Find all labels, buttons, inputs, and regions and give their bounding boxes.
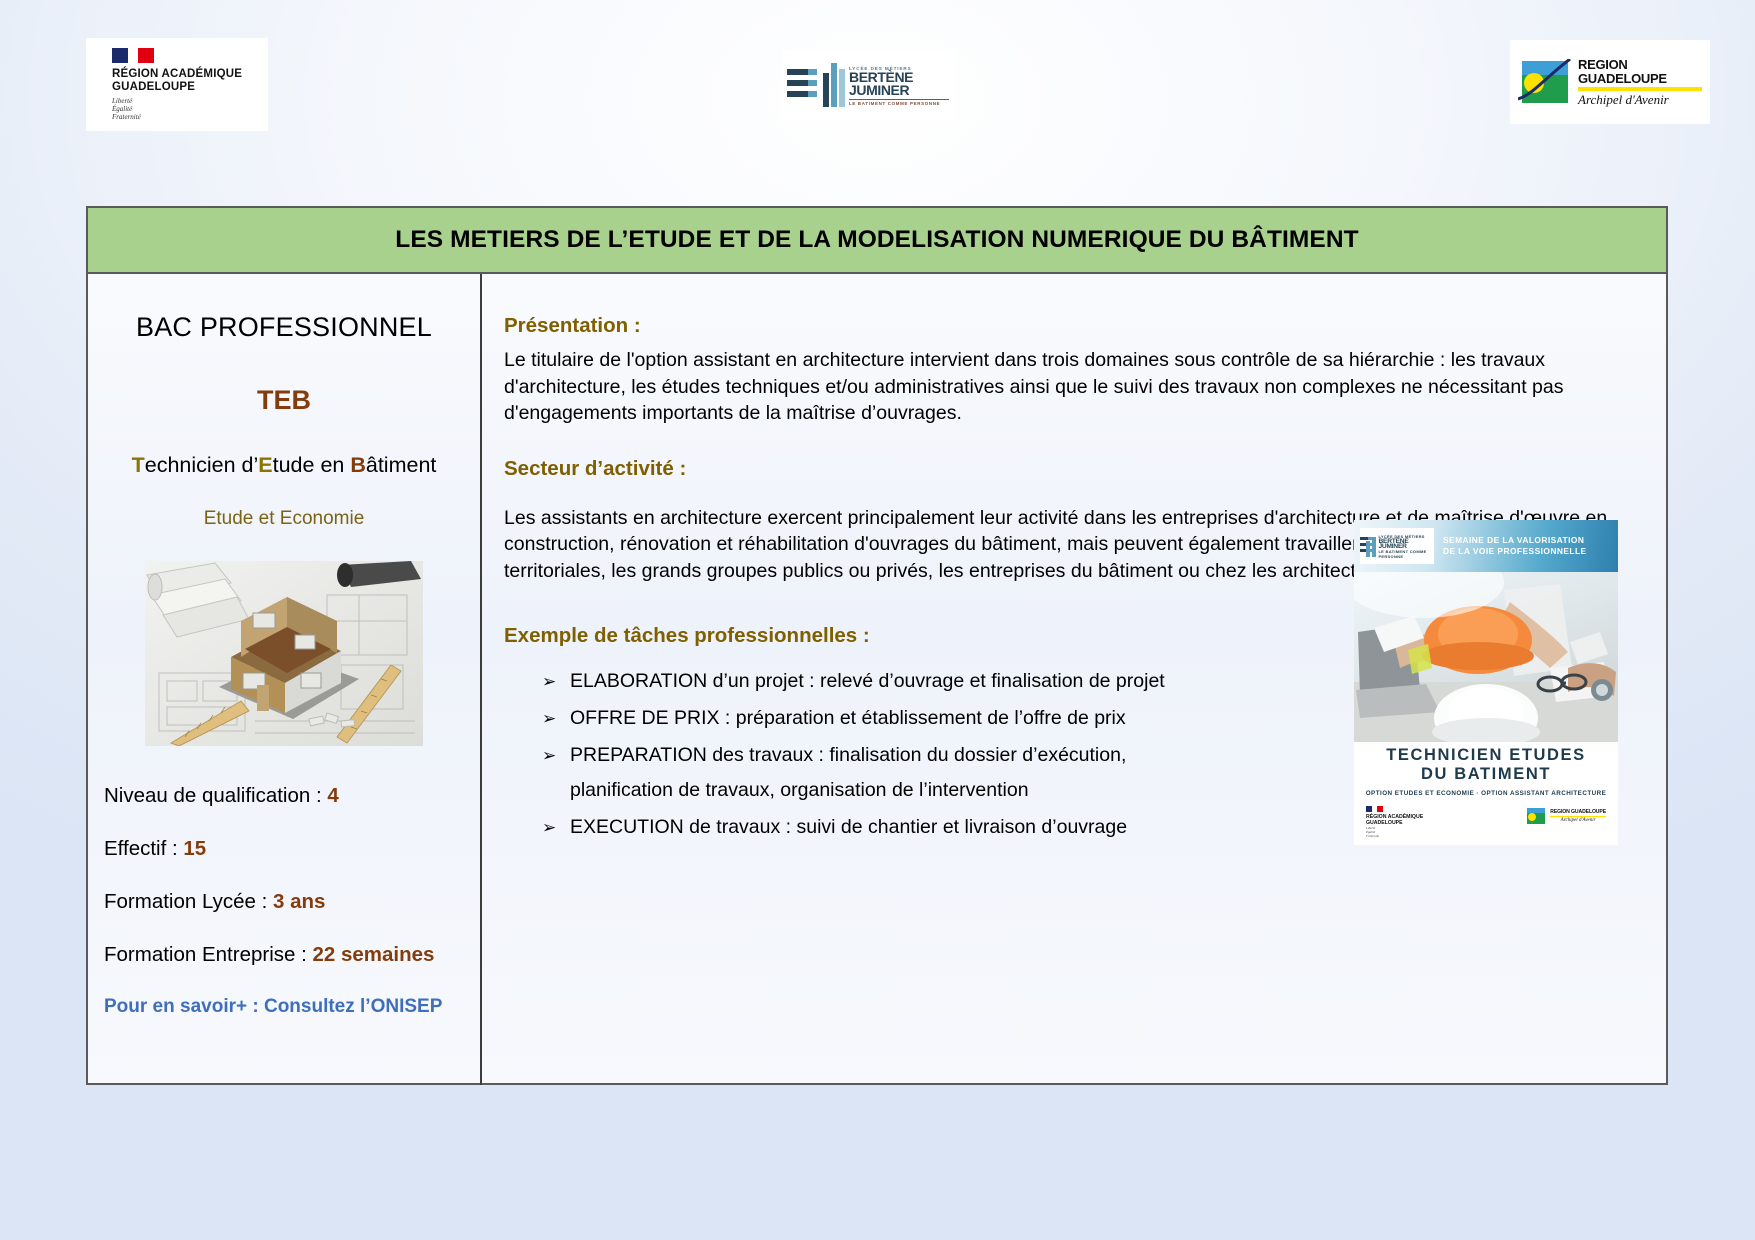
house-model-illustration: [145, 561, 423, 746]
task-text-1: OFFRE DE PRIX : préparation et établisse…: [570, 707, 1126, 729]
poster-slogan: SEMAINE DE LA VALORISATION DE LA VOIE PR…: [1443, 535, 1587, 557]
lycee-name2: JUMINER: [849, 84, 949, 97]
poster-footer-region-sub: Archipel d'Avenir: [1550, 818, 1606, 823]
poster-slogan-line1: SEMAINE DE LA VALORISATION: [1443, 535, 1587, 546]
diploma-option: Etude et Economie: [204, 508, 365, 530]
french-flag-icon: [1366, 806, 1383, 812]
academie-name-line1: RÉGION ACADÉMIQUE: [112, 68, 268, 81]
stat-value-2: 3 ans: [273, 890, 325, 913]
poster-title-line1: TECHNICIEN ETUDES: [1362, 746, 1610, 765]
region-subtitle: Archipel d'Avenir: [1578, 93, 1702, 107]
poster-header: LYCÉE DES MÉTIERS BERTÈNE JUMINER LE BAT…: [1354, 520, 1618, 572]
task-text-3: EXECUTION de travaux : suivi de chantier…: [570, 816, 1127, 838]
logo-region-guadeloupe: REGION GUADELOUPE Archipel d'Avenir: [1510, 40, 1710, 124]
arrow-bullet-icon: ➢: [542, 810, 556, 845]
building-mark-icon: [1360, 535, 1376, 557]
task-text-0: ELABORATION d’un projet : relevé d’ouvra…: [570, 670, 1165, 692]
academie-name-line2: GUADELOUPE: [112, 81, 268, 94]
region-title: REGION GUADELOUPE: [1578, 58, 1702, 86]
poster-footer-region: REGION GUADELOUPE Archipel d'Avenir: [1525, 806, 1606, 826]
lycee-tagline: LE BATIMENT COMME PERSONNE: [849, 101, 949, 106]
stat-label-3: Formation Entreprise :: [104, 943, 313, 966]
key-figures: Niveau de qualification : 4 Effectif : 1…: [98, 784, 470, 1018]
french-flag-icon: [112, 48, 154, 63]
presentation-heading: Présentation :: [504, 314, 1640, 338]
stat-value-1: 15: [183, 837, 206, 860]
stat-label-0: Niveau de qualification :: [104, 784, 327, 807]
poster-motto-fraternite: Fraternité: [1366, 835, 1423, 839]
motto-fraternite: Fraternité: [112, 113, 268, 121]
sheet-header: LES METIERS DE L’ETUDE ET DE LA MODELISA…: [88, 208, 1666, 274]
presentation-body: Le titulaire de l'option assistant en ar…: [504, 347, 1640, 427]
stat-niveau-qualification: Niveau de qualification : 4: [104, 784, 466, 808]
diploma-acronym-expanded: Technicien d’Etude en Bâtiment: [132, 453, 437, 478]
left-column: BAC PROFESSIONNEL TEB Technicien d’Etude…: [88, 274, 482, 1085]
stat-formation-lycee: Formation Lycée : 3 ans: [104, 890, 466, 914]
stat-label-1: Effectif :: [104, 837, 183, 860]
poster-subtitle: OPTION ETUDES ET ECONOMIE · OPTION ASSIS…: [1362, 790, 1610, 797]
region-yellow-bar: [1578, 87, 1702, 91]
stat-value-3: 22 semaines: [313, 943, 435, 966]
acronym-part3: âtiment: [366, 453, 437, 477]
logo-band: RÉGION ACADÉMIQUE GUADELOUPE Liberté Éga…: [0, 0, 1755, 150]
poster-footer-region-title: REGION GUADELOUPE: [1550, 809, 1606, 815]
acronym-letter-t: T: [132, 453, 145, 477]
poster-footer-academie: RÉGION ACADÉMIQUE GUADELOUPE Liberté Éga…: [1366, 806, 1423, 838]
poster-photo: [1354, 572, 1618, 742]
stat-effectif: Effectif : 15: [104, 837, 466, 861]
arrow-bullet-icon: ➢: [542, 664, 556, 699]
onisep-link[interactable]: Pour en savoir+ : Consultez l’ONISEP: [104, 996, 466, 1018]
stat-formation-entreprise: Formation Entreprise : 22 semaines: [104, 943, 466, 967]
diploma-title: BAC PROFESSIONNEL: [136, 312, 432, 343]
region-guadeloupe-mark-icon: [1518, 57, 1572, 107]
poster-footer-logos: RÉGION ACADÉMIQUE GUADELOUPE Liberté Éga…: [1362, 806, 1610, 838]
region-guadeloupe-mark-icon: [1525, 806, 1547, 826]
secteur-heading: Secteur d’activité :: [504, 457, 1640, 481]
poster-lycee-logo: LYCÉE DES MÉTIERS BERTÈNE JUMINER LE BAT…: [1360, 528, 1434, 564]
stat-value-0: 4: [327, 784, 338, 807]
motto-egalite: Égalité: [112, 105, 268, 113]
page-title: LES METIERS DE L’ETUDE ET DE LA MODELISA…: [395, 226, 1359, 254]
motto-liberte: Liberté: [112, 97, 268, 105]
poster-footer: TECHNICIEN ETUDES DU BATIMENT OPTION ETU…: [1354, 742, 1618, 845]
logo-rule: [849, 99, 949, 100]
acronym-letter-e: E: [258, 453, 272, 477]
poster-logo-tagline: LE BATIMENT COMME PERSONNE: [1378, 549, 1434, 559]
logo-lycee-bertene-juminer: LYCÉE DES MÉTIERS BERTÈNE JUMINER LE BAT…: [782, 51, 954, 121]
building-mark-icon: [787, 63, 845, 109]
logo-region-academique-guadeloupe: RÉGION ACADÉMIQUE GUADELOUPE Liberté Éga…: [86, 38, 268, 131]
stat-label-2: Formation Lycée :: [104, 890, 273, 913]
acronym-part2: tude en: [273, 453, 351, 477]
poster-slogan-line2: DE LA VOIE PROFESSIONNELLE: [1443, 546, 1587, 557]
acronym-letter-b: B: [350, 453, 366, 477]
poster-technicien-etudes-du-batiment: LYCÉE DES MÉTIERS BERTÈNE JUMINER LE BAT…: [1354, 520, 1618, 845]
acronym-part1: echnicien d’: [145, 453, 259, 477]
poster-title-line2: DU BATIMENT: [1362, 765, 1610, 784]
arrow-bullet-icon: ➢: [542, 738, 556, 773]
arrow-bullet-icon: ➢: [542, 701, 556, 736]
task-text-2: PREPARATION des travaux : finalisation d…: [570, 744, 1126, 766]
diploma-acronym: TEB: [257, 385, 311, 416]
